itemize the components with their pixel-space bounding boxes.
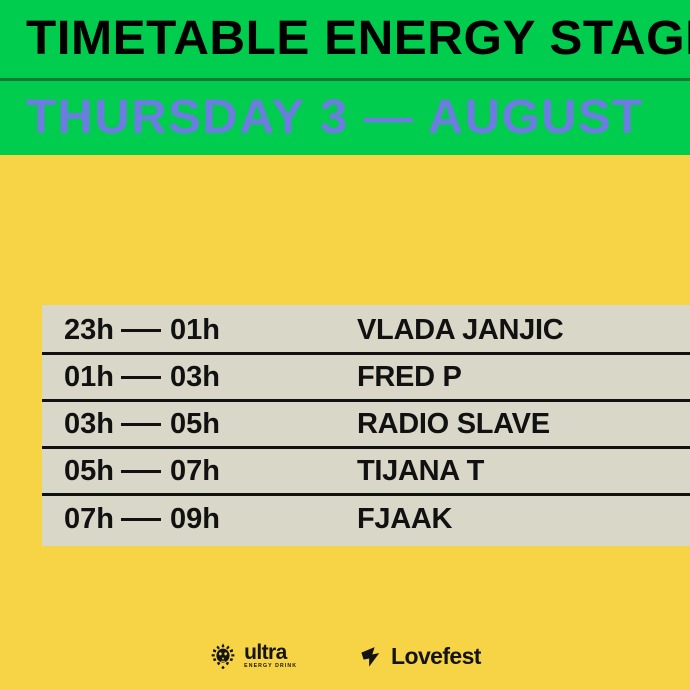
row-time-range: 03h 05h <box>64 408 357 441</box>
table-row: 23h 01h VLADA JANJIC <box>42 308 690 355</box>
time-end: 05h <box>170 408 220 441</box>
row-artist-name: FJAAK <box>357 503 690 536</box>
poster-canvas: TIMETABLE ENERGY STAGE THURSDAY 3 — AUGU… <box>0 0 690 690</box>
row-time-range: 01h 03h <box>64 361 357 394</box>
ultra-wordmark-block: ultra ENERGY DRINK <box>244 643 297 670</box>
time-start: 01h <box>64 361 114 394</box>
page-title: TIMETABLE ENERGY STAGE <box>26 15 690 63</box>
time-end: 01h <box>170 314 220 347</box>
poster-body: 23h 01h VLADA JANJIC 01h 03h FRED P 03h <box>0 155 690 690</box>
time-start: 03h <box>64 408 114 441</box>
time-start: 05h <box>64 455 114 488</box>
time-dash-icon <box>121 376 161 379</box>
ultra-tagline: ENERGY DRINK <box>244 664 297 669</box>
time-dash-icon <box>121 423 161 426</box>
date-subtitle: THURSDAY 3 — AUGUST <box>26 94 644 142</box>
row-time-range: 23h 01h <box>64 314 357 347</box>
time-dash-icon <box>121 470 161 473</box>
lovefest-logo: Lovefest <box>359 643 481 670</box>
time-start: 23h <box>64 314 114 347</box>
time-end: 09h <box>170 503 220 536</box>
ultra-energy-drink-logo: ultra ENERGY DRINK <box>209 642 297 670</box>
lovefest-arrow-icon <box>359 644 384 669</box>
table-row: 03h 05h RADIO SLAVE <box>42 402 690 449</box>
row-time-range: 05h 07h <box>64 455 357 488</box>
header-title-row: TIMETABLE ENERGY STAGE <box>0 0 690 78</box>
time-end: 03h <box>170 361 220 394</box>
ultra-wordmark: ultra <box>244 643 287 663</box>
poster-header: TIMETABLE ENERGY STAGE THURSDAY 3 — AUGU… <box>0 0 690 155</box>
row-artist-name: RADIO SLAVE <box>357 408 690 441</box>
time-end: 07h <box>170 455 220 488</box>
lovefest-wordmark: Lovefest <box>391 643 481 670</box>
header-subtitle-row: THURSDAY 3 — AUGUST <box>0 81 690 155</box>
table-row: 07h 09h FJAAK <box>42 496 690 543</box>
lion-crest-icon <box>209 642 237 670</box>
row-artist-name: FRED P <box>357 361 690 394</box>
row-artist-name: TIJANA T <box>357 455 690 488</box>
time-start: 07h <box>64 503 114 536</box>
timetable-panel: 23h 01h VLADA JANJIC 01h 03h FRED P 03h <box>42 305 690 546</box>
footer-logos: ultra ENERGY DRINK Lovefest <box>0 642 690 670</box>
time-dash-icon <box>121 329 161 332</box>
table-row: 05h 07h TIJANA T <box>42 449 690 496</box>
table-row: 01h 03h FRED P <box>42 355 690 402</box>
row-artist-name: VLADA JANJIC <box>357 314 690 347</box>
row-time-range: 07h 09h <box>64 503 357 536</box>
time-dash-icon <box>121 518 161 521</box>
